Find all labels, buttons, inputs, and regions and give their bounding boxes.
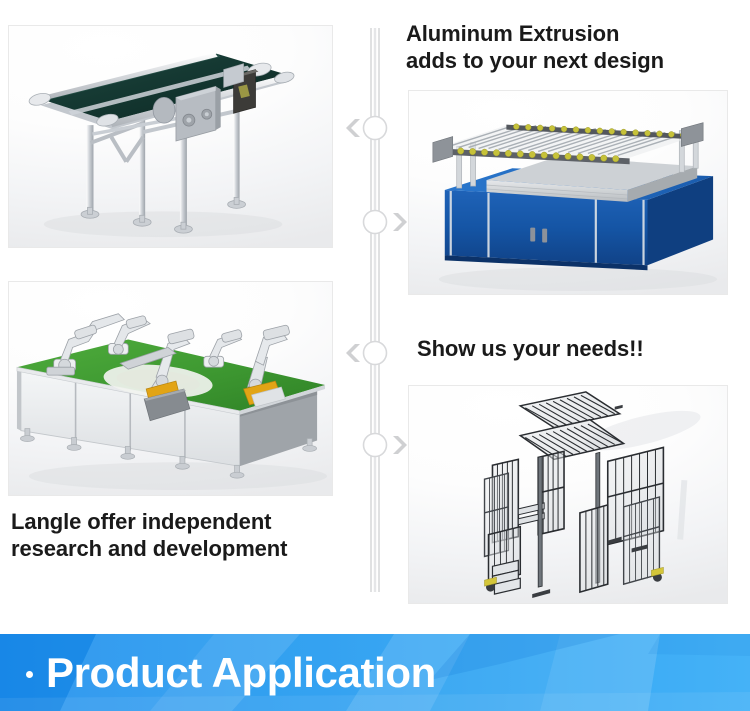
- timeline-node-4[interactable]: [364, 434, 387, 457]
- belt-conveyor-drawing: [9, 26, 332, 247]
- robot-cell-drawing: [9, 282, 332, 495]
- safety-fence-image[interactable]: [408, 385, 728, 604]
- robot-cell-image[interactable]: [8, 281, 333, 496]
- vertical-timeline: [341, 0, 409, 620]
- heading-show-us-your-needs: Show us your needs!!: [417, 336, 737, 363]
- banner-content: Product Application: [0, 634, 750, 711]
- timeline-node-2[interactable]: [364, 211, 387, 234]
- heading-line-1: Langle offer independent: [11, 509, 341, 536]
- belt-conveyor-image[interactable]: [8, 25, 333, 248]
- heading-langle-rnd: Langle offer independent research and de…: [11, 509, 341, 563]
- banner-title: Product Application: [46, 652, 436, 694]
- heading-aluminum-extrusion: Aluminum Extrusion adds to your next des…: [406, 21, 736, 75]
- safety-fence-drawing: [409, 386, 727, 603]
- product-application-banner: Product Application: [0, 634, 750, 711]
- chevron-right-icon-4[interactable]: [393, 436, 407, 454]
- chevron-right-icon-2[interactable]: [393, 213, 407, 231]
- timeline-node-3[interactable]: [364, 342, 387, 365]
- product-application-page: Aluminum Extrusion adds to your next des…: [0, 0, 750, 711]
- chevron-left-icon-1[interactable]: [346, 119, 360, 137]
- bullet-dot-icon: [26, 671, 33, 678]
- heading-line-1: Show us your needs!!: [417, 336, 737, 363]
- timeline-node-1[interactable]: [364, 117, 387, 140]
- heading-line-2: research and development: [11, 536, 341, 563]
- chevron-left-icon-3[interactable]: [346, 344, 360, 362]
- timeline-drawing: [341, 0, 409, 620]
- extrusion-machine-drawing: [409, 91, 727, 294]
- heading-line-2: adds to your next design: [406, 48, 736, 75]
- heading-line-1: Aluminum Extrusion: [406, 21, 736, 48]
- aluminum-extrusion-machine-image[interactable]: [408, 90, 728, 295]
